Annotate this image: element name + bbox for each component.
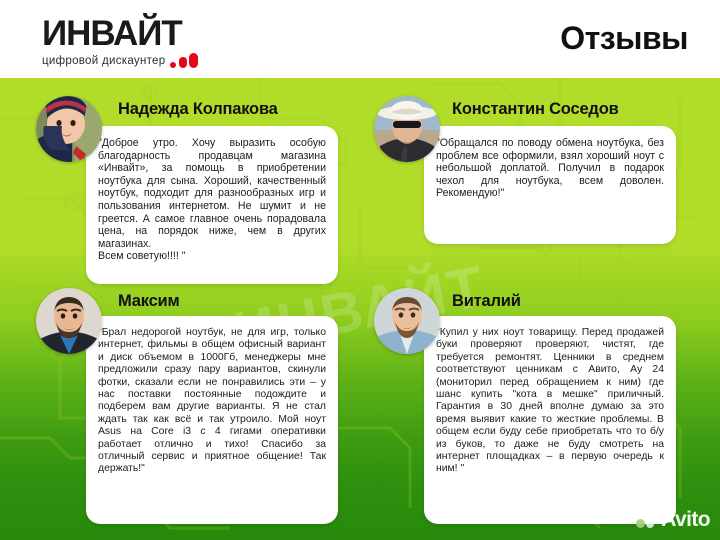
review-text: "Брал недорогой ноутбук, не для игр, тол… [86, 316, 338, 484]
avatar [374, 96, 440, 162]
review-card: "Доброе утро. Хочу выразить особую благо… [86, 126, 338, 284]
avito-watermark: Avito [636, 508, 710, 532]
brand-logo: ИНВАЙТ цифровой дискаунтер [42, 16, 198, 68]
reviewer-name: Виталий [452, 292, 521, 311]
review-text: "Доброе утро. Хочу выразить особую благо… [86, 126, 338, 271]
review-text: "Купил у них ноут товарищу. Перед продаж… [424, 316, 676, 484]
avatar [374, 288, 440, 354]
avatar [36, 288, 102, 354]
reviewer-name: Надежда Колпакова [118, 100, 278, 119]
avito-label: Avito [661, 508, 710, 532]
review-card: "Брал недорогой ноутбук, не для игр, тол… [86, 316, 338, 524]
avito-logo-icon [636, 511, 658, 529]
review-card: "Обращался по поводу обмена ноутбука, бе… [424, 126, 676, 244]
review-text: "Обращался по поводу обмена ноутбука, бе… [424, 126, 676, 208]
logo-tagline: цифровой дискаунтер [42, 55, 165, 67]
reviewer-name: Максим [118, 292, 180, 311]
review-card: "Купил у них ноут товарищу. Перед продаж… [424, 316, 676, 524]
header-bar: ИНВАЙТ цифровой дискаунтер Отзывы [0, 0, 720, 78]
page-title: Отзывы [560, 20, 688, 57]
reviewer-name: Константин Соседов [452, 100, 619, 119]
logo-wordmark: ИНВАЙТ [42, 16, 198, 52]
avatar [36, 96, 102, 162]
logo-dots-icon [170, 53, 198, 68]
review-poster: ИНВАЙТ ИНВАЙТ цифровой дискаунтер Отзывы… [0, 0, 720, 540]
